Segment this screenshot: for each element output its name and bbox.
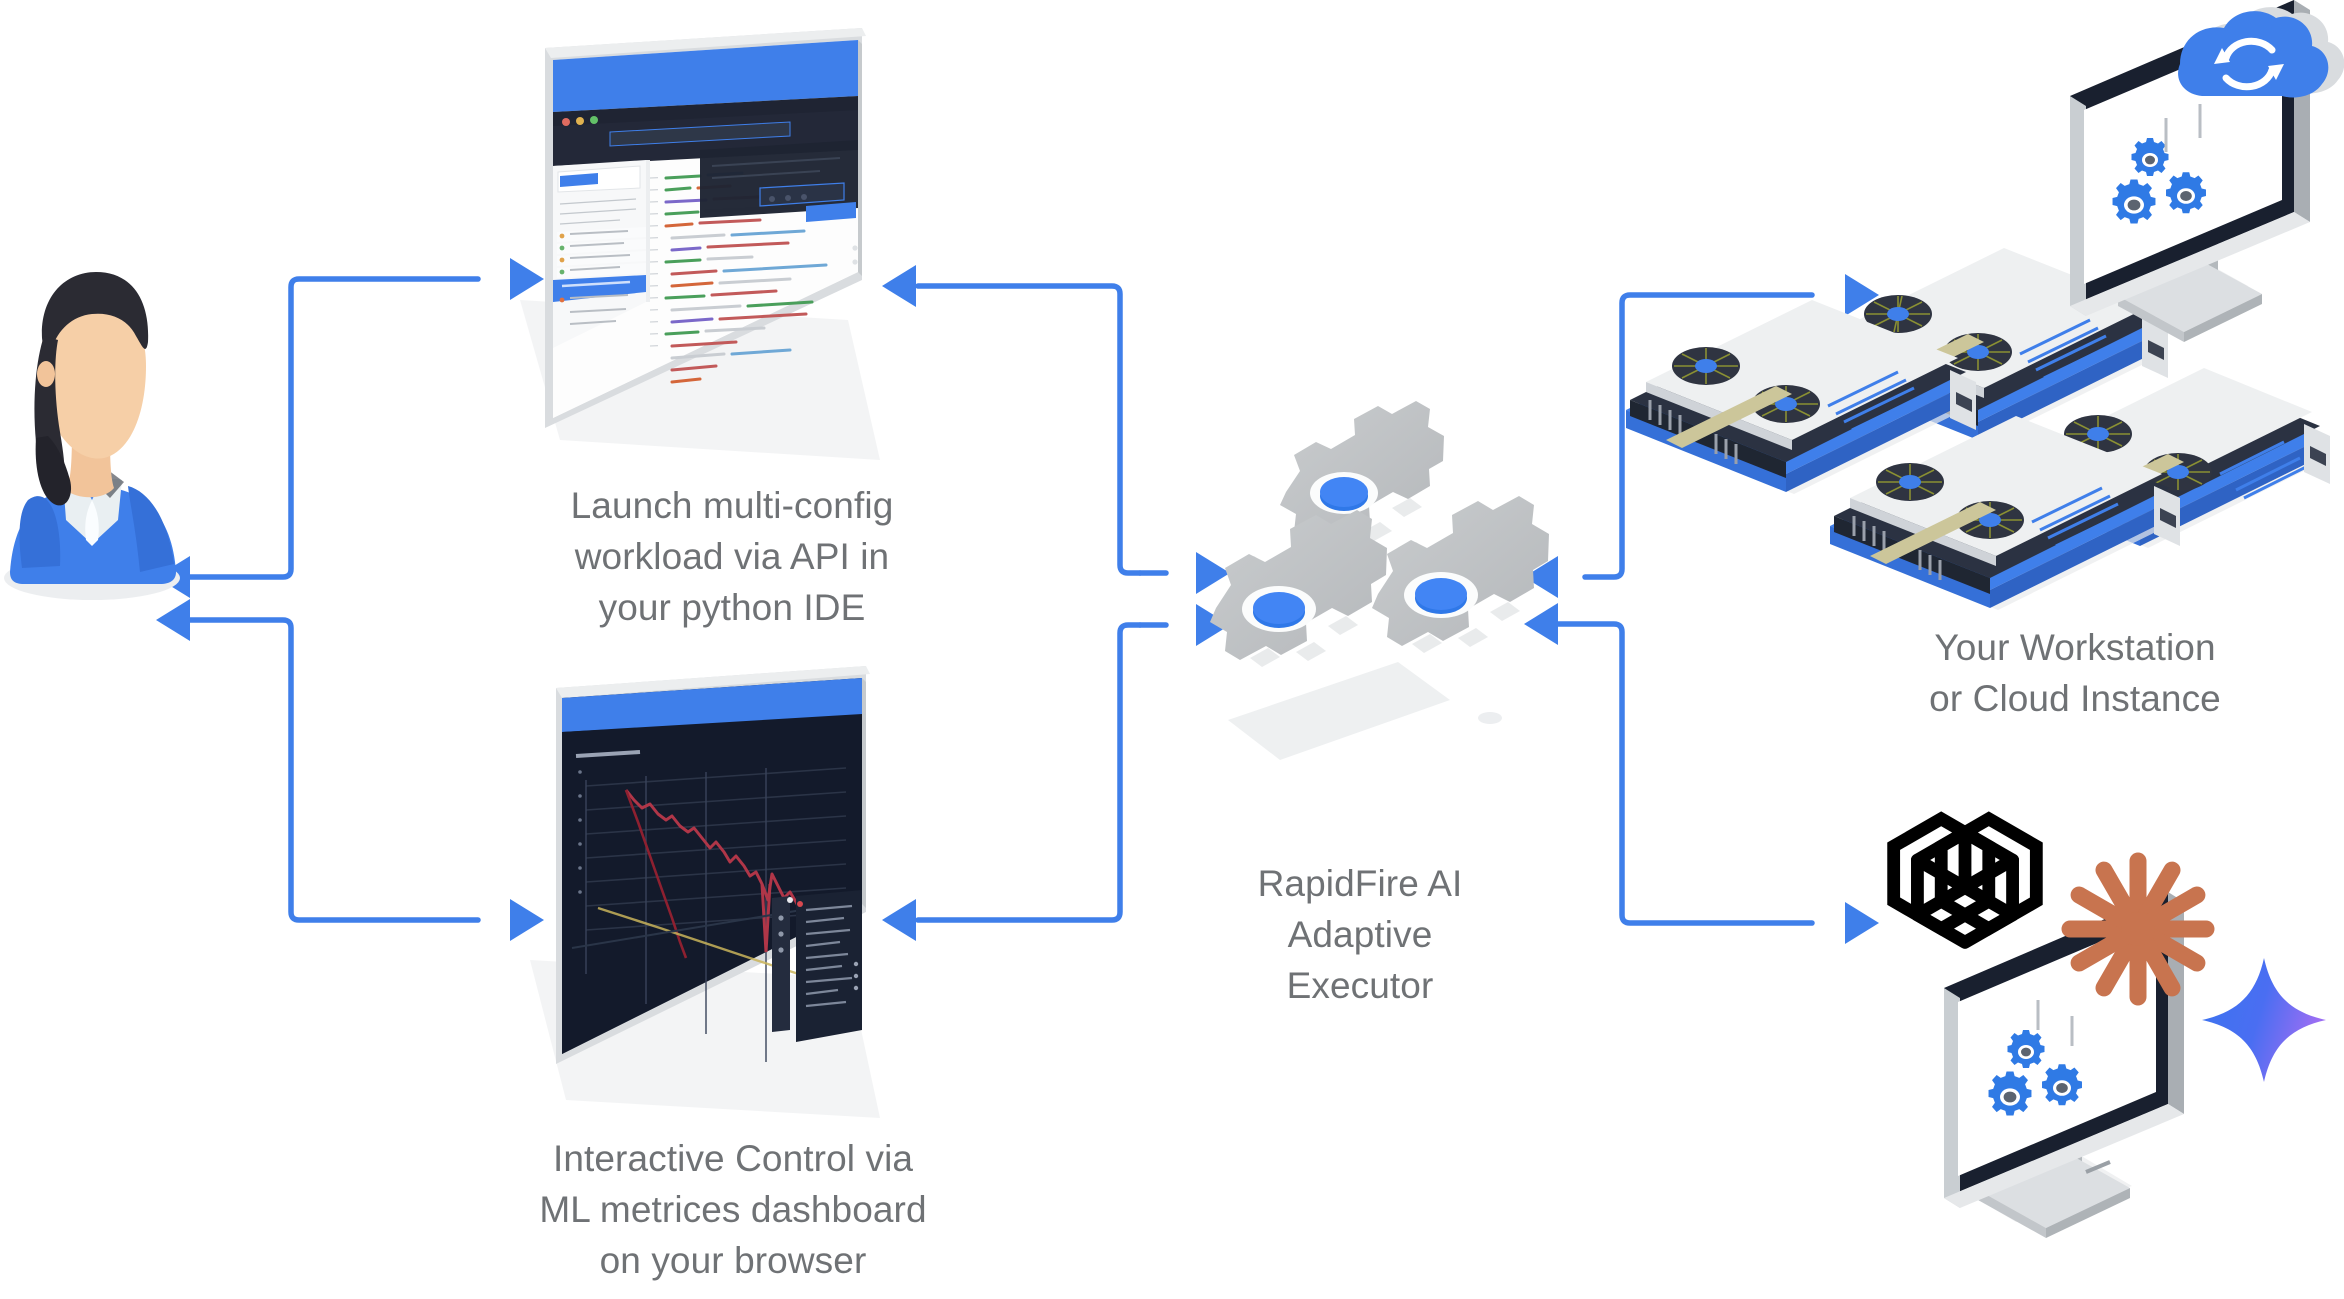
- caption-executor: RapidFire AI Adaptive Executor: [1185, 858, 1535, 1011]
- arrowhead-to-ide: [510, 258, 544, 300]
- cloud-workstation: [2070, 0, 2344, 342]
- arrowhead-from-executor-to-ide: [882, 265, 916, 307]
- edge-executor-to-dashboard: [918, 625, 1140, 920]
- arrowhead-to-llm: [1845, 902, 1879, 944]
- arrowhead-to-dashboard: [510, 899, 544, 941]
- edge-user-to-dashboard: [190, 620, 478, 920]
- edge-user-to-ide: [190, 279, 478, 577]
- edge-executor-to-ide: [918, 286, 1140, 573]
- diagram-canvas: Launch multi-config workload via API in …: [0, 0, 2344, 1299]
- arrowhead-into-executor-top: [1196, 552, 1230, 594]
- cloud-sync-icon: [2178, 7, 2344, 97]
- executor-gears: [1210, 401, 1549, 760]
- openai-logo: [1870, 805, 2060, 942]
- user-avatar: [4, 272, 180, 600]
- arrowhead-from-executor-to-dashboard: [882, 899, 916, 941]
- ide-laptop: [520, 28, 880, 460]
- edge-gpus-to-executor: [1558, 624, 1812, 923]
- caption-dashboard: Interactive Control via ML metrices dash…: [498, 1133, 968, 1286]
- gear-left: [1210, 510, 1387, 667]
- dashboard-laptop: [530, 666, 880, 1118]
- arrowhead-into-executor-right-bottom: [1524, 603, 1558, 645]
- caption-hardware: Your Workstation or Cloud Instance: [1890, 622, 2260, 724]
- gemini-logo: [2202, 958, 2326, 1082]
- caption-ide: Launch multi-config workload via API in …: [552, 480, 912, 633]
- gear-right: [1372, 496, 1549, 653]
- arrowhead-to-user-bottom: [156, 599, 190, 641]
